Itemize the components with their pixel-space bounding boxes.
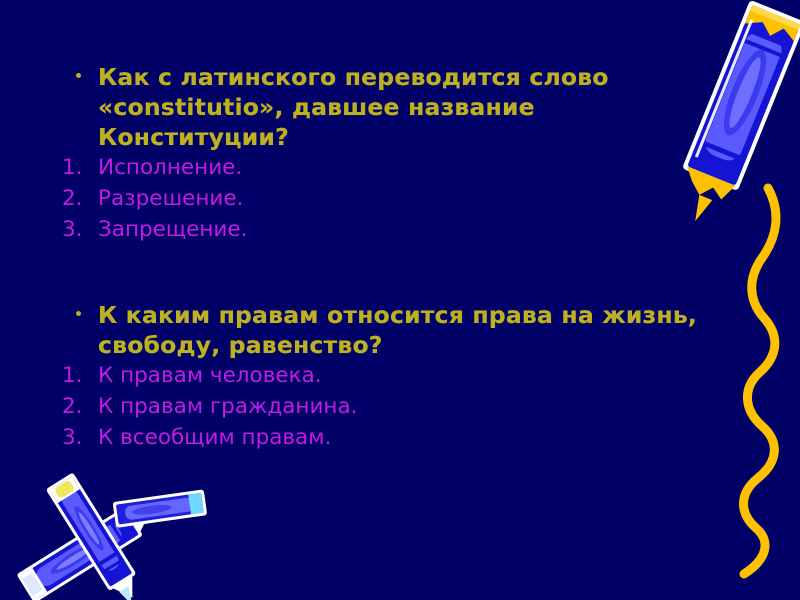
answer-number: 1. [62,360,88,391]
answer-label: К правам человека. [98,363,322,388]
answer-number: 2. [62,183,88,214]
answer-label: Разрешение. [98,186,243,211]
list-item[interactable]: 2. К правам гражданина. [62,391,702,422]
list-item[interactable]: 3. Запрещение. [62,214,702,245]
slide-content: Как с латинского переводится слово «cons… [0,0,800,600]
bullet-icon [76,73,81,78]
question-block-1: Как с латинского переводится слово «cons… [62,62,702,245]
question-label-1: Как с латинского переводится слово «cons… [98,63,609,151]
list-item[interactable]: 3. К всеобщим правам. [62,422,702,453]
question-block-2: К каким правам относится права на жизнь,… [62,300,702,453]
list-item[interactable]: 2. Разрешение. [62,183,702,214]
answer-label: Запрещение. [98,217,247,242]
answer-label: К всеобщим правам. [98,425,331,450]
answer-number: 1. [62,152,88,183]
answer-label: Исполнение. [98,155,242,180]
bullet-icon [76,311,81,316]
answer-label: К правам гражданина. [98,394,358,419]
list-item[interactable]: 1. Исполнение. [62,152,702,183]
answer-list-1: 1. Исполнение. 2. Разрешение. 3. Запреще… [62,152,702,245]
answer-number: 3. [62,422,88,453]
answer-list-2: 1. К правам человека. 2. К правам гражда… [62,360,702,453]
answer-number: 3. [62,214,88,245]
slide-canvas: Как с латинского переводится слово «cons… [0,0,800,600]
answer-number: 2. [62,391,88,422]
list-item[interactable]: 1. К правам человека. [62,360,702,391]
question-label-2: К каким правам относится права на жизнь,… [98,301,697,359]
question-text-1: Как с латинского переводится слово «cons… [62,62,702,152]
question-text-2: К каким правам относится права на жизнь,… [62,300,702,360]
